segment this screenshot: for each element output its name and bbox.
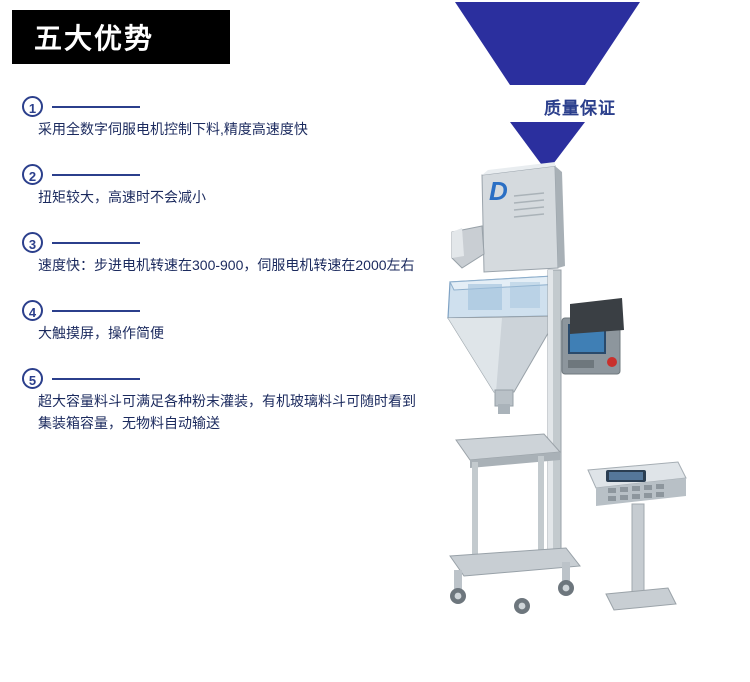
number-badge-4: 4 (22, 300, 43, 321)
list-item: 5 超大容量料斗可满足各种粉末灌装，有机玻璃料斗可随时看到集装箱容量，无物料自动… (0, 368, 450, 434)
funnel-label: 质量保证 (410, 94, 750, 119)
machine-chute (452, 226, 484, 268)
title-block: 五大优势 (12, 10, 230, 64)
divider-rule-1 (52, 106, 140, 108)
divider-rule-5 (52, 378, 140, 380)
machine-logo-letter: D (489, 176, 508, 206)
list-item: 1 采用全数字伺服电机控制下料,精度高速度快 (0, 96, 450, 140)
list-item: 4 大触摸屏，操作简便 (0, 300, 450, 344)
product-illustration: D (410, 0, 750, 677)
divider-rule-3 (52, 242, 140, 244)
machine-column (548, 270, 561, 560)
weighing-scale (588, 462, 686, 610)
machine-base-frame (450, 548, 580, 614)
machine-hopper (448, 276, 560, 318)
list-item: 2 扭矩较大，高速时不会减小 (0, 164, 450, 208)
funnel-graphic (455, 2, 640, 172)
divider-rule-4 (52, 310, 140, 312)
list-item: 3 速度快：步进电机转速在300-900，伺服电机转速在2000左右 (0, 232, 450, 276)
number-badge-1: 1 (22, 96, 43, 117)
number-badge-5: 5 (22, 368, 43, 389)
number-badge-3: 3 (22, 232, 43, 253)
machine-platform (456, 434, 560, 562)
advantage-text-1: 采用全数字伺服电机控制下料,精度高速度快 (26, 96, 438, 140)
advantage-text-3: 速度快：步进电机转速在300-900，伺服电机转速在2000左右 (26, 232, 428, 276)
machine-side-panel (570, 298, 624, 334)
advantages-list: 1 采用全数字伺服电机控制下料,精度高速度快 2 扭矩较大，高速时不会减小 3 … (0, 96, 450, 444)
number-badge-2: 2 (22, 164, 43, 185)
machine-cone (448, 316, 558, 414)
advantage-text-4: 大触摸屏，操作简便 (26, 300, 438, 344)
page-title: 五大优势 (34, 24, 154, 54)
divider-rule-2 (52, 174, 140, 176)
page-root: 五大优势 1 采用全数字伺服电机控制下料,精度高速度快 2 扭矩较大，高速时不会… (0, 0, 750, 677)
advantage-text-2: 扭矩较大，高速时不会减小 (26, 164, 438, 208)
